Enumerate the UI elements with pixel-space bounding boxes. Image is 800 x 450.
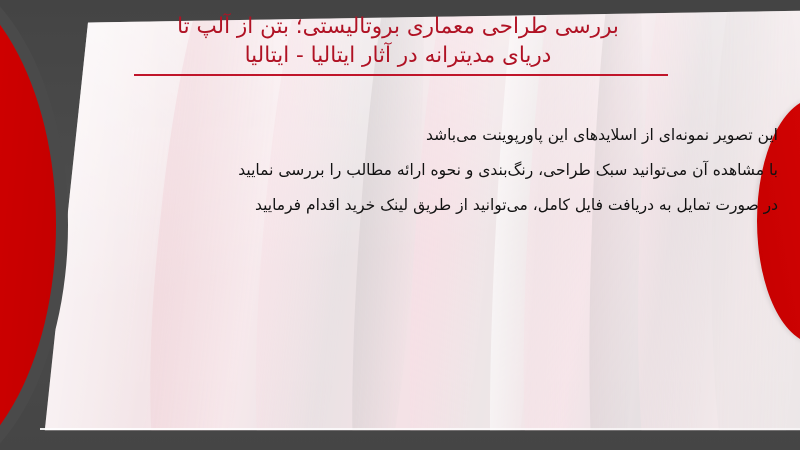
slide-body-line-2: با مشاهده آن می‌توانید سبک طراحی، رنگ‌بن… — [22, 153, 778, 188]
slide-title-line-2: دریای مدیترانه در آثار ایتالیا - ایتالیا — [128, 41, 668, 70]
slide-body-line-1: این تصویر نمونه‌ای از اسلایدهای این پاور… — [22, 118, 778, 153]
presentation-slide: بررسی طراحی معماری بروتالیستی؛ بتن از آل… — [0, 0, 800, 450]
slide-body-text: این تصویر نمونه‌ای از اسلایدهای این پاور… — [22, 118, 778, 223]
slide-title: بررسی طراحی معماری بروتالیستی؛ بتن از آل… — [128, 12, 668, 76]
slide-title-line-1: بررسی طراحی معماری بروتالیستی؛ بتن از آل… — [128, 12, 668, 41]
slide-body-line-3: در صورت تمایل به دریافت فایل کامل، می‌تو… — [22, 188, 778, 223]
title-underline-rule — [134, 74, 668, 76]
panel-bottom-highlight — [40, 428, 800, 430]
